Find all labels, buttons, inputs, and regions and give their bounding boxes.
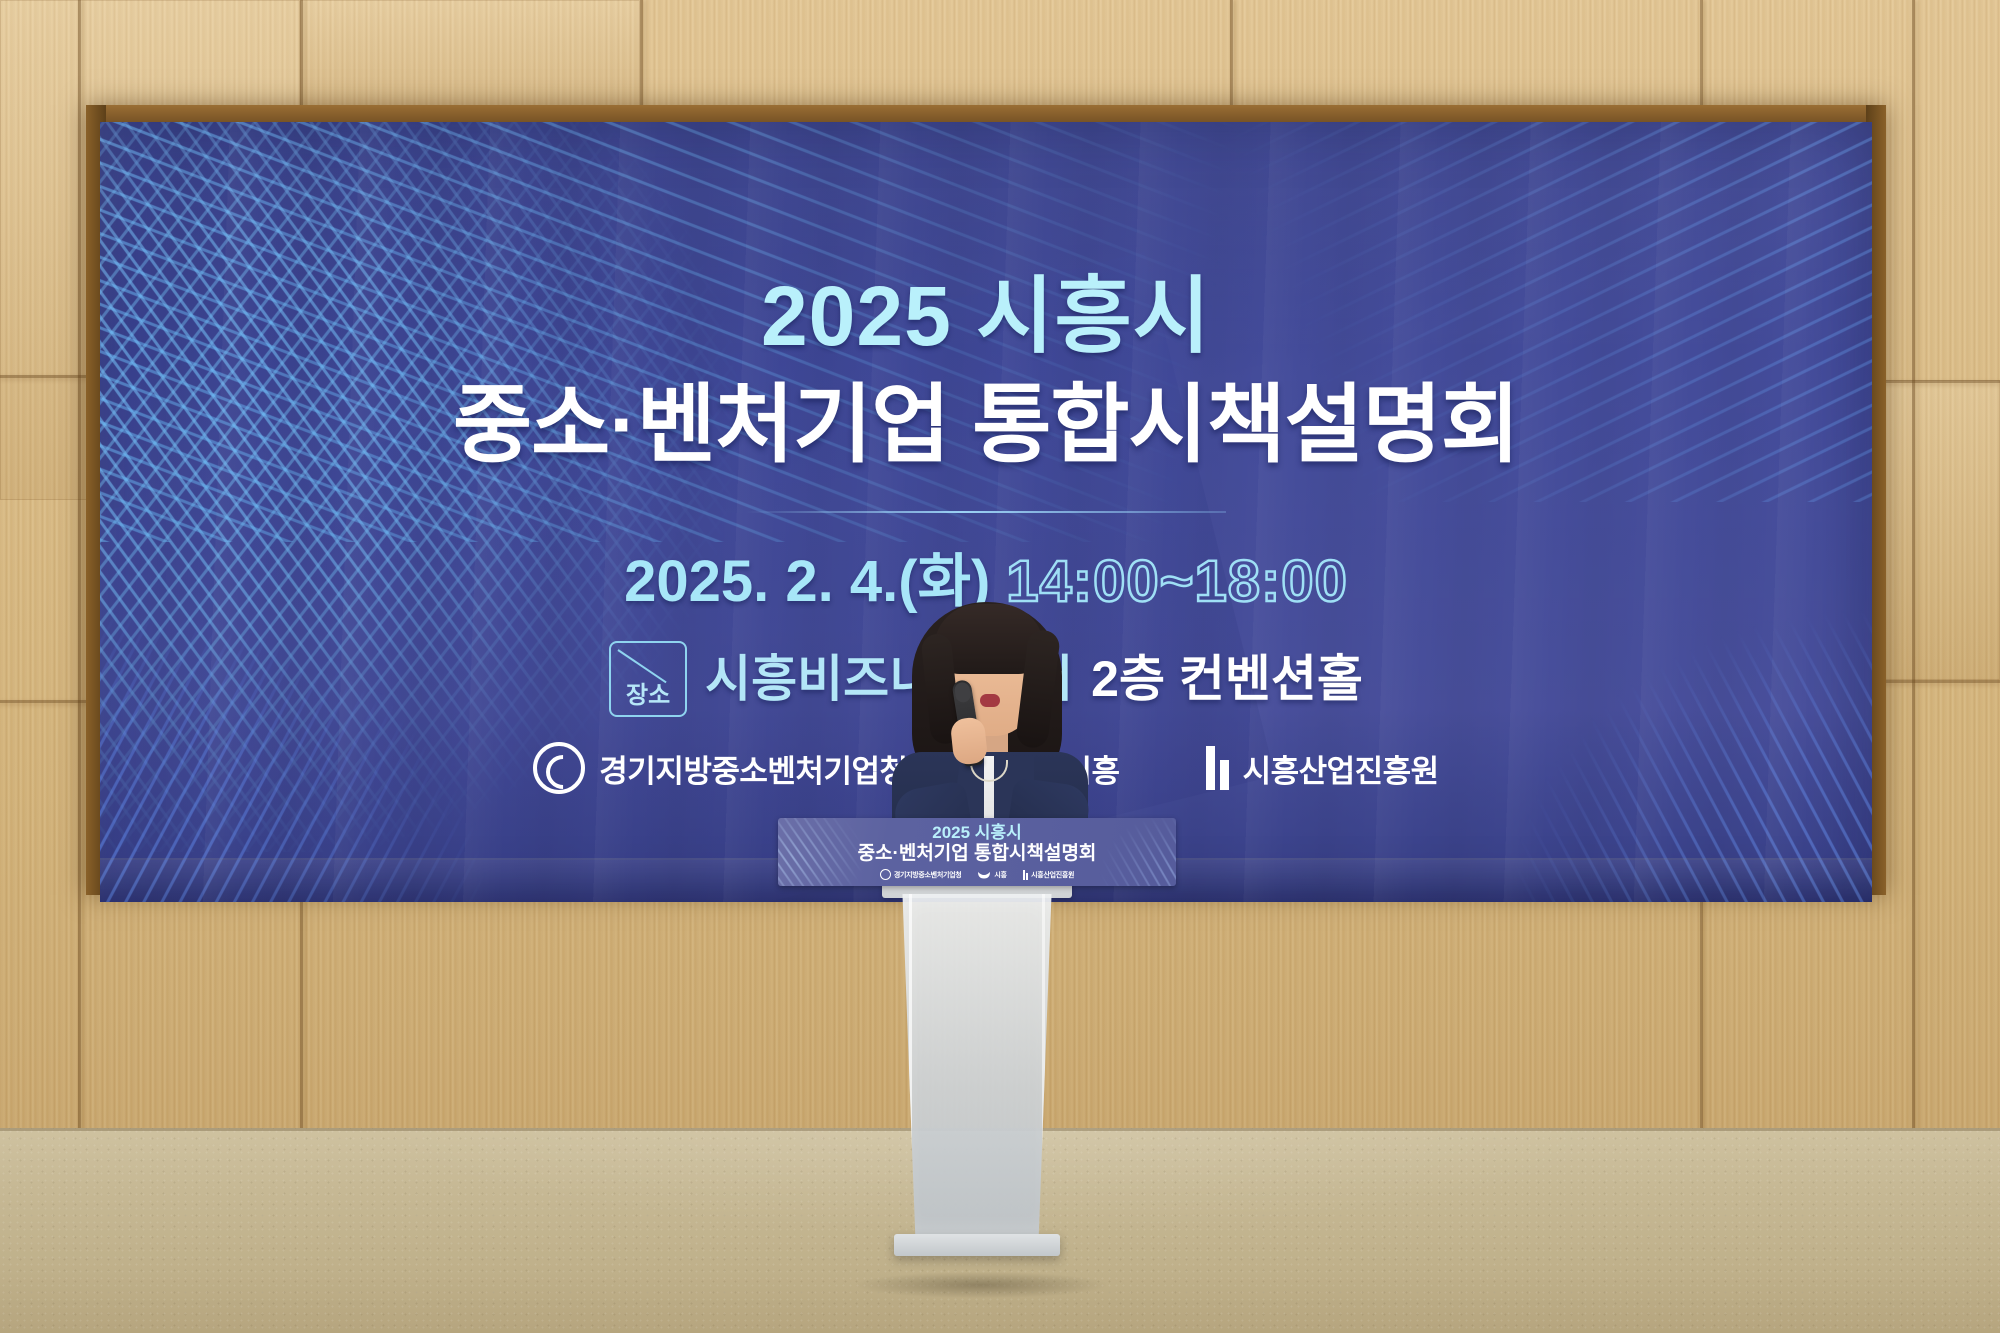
banner-title-line1: 2025 시흥시 (761, 274, 1211, 358)
speaker-hand (950, 716, 989, 765)
wall-seam (1230, 0, 1233, 112)
siheung-city-icon (977, 870, 991, 880)
wall-panel (300, 0, 640, 120)
venue-badge-slash-icon (618, 649, 667, 683)
podium-body (896, 894, 1058, 1240)
banner-venue-detail: 2층 컨벤션홀 (1091, 654, 1363, 704)
venue-badge: 장소 (609, 641, 687, 717)
podium-logo-label: 시흥산업진흥원 (1031, 870, 1074, 880)
siheung-city-icon-svg (977, 870, 991, 880)
bars-icon (1023, 870, 1029, 880)
taegeuk-icon (533, 742, 585, 794)
podium-logo-siheung-industry-promotion: 시흥산업진흥원 (1023, 870, 1074, 880)
banner-title-line2: 중소·벤처기업 통합시책설명회 (453, 380, 1519, 471)
podium-logo-gyeonggi-smba: 경기지방중소벤처기업청 (880, 869, 962, 880)
podium-sign-title-line1: 2025 시흥시 (932, 824, 1021, 843)
venue-badge-label: 장소 (626, 684, 670, 708)
logo-gyeonggi-smba: 경기지방중소벤처기업청 (533, 742, 907, 794)
podium-sign-title-line2: 중소·벤처기업 통합시책설명회 (858, 844, 1097, 865)
podium-sign: 2025 시흥시 중소·벤처기업 통합시책설명회 경기지방중소벤처기업청 시흥 … (778, 818, 1176, 886)
wall-seam (1912, 0, 1915, 1133)
podium-logo-label: 경기지방중소벤처기업청 (894, 870, 962, 880)
podium-logo-label: 시흥 (994, 870, 1006, 880)
wall-seam (640, 0, 643, 112)
speaker-hair-front (934, 604, 1044, 674)
logo-siheung-industry-promotion: 시흥산업진흥원 (1206, 746, 1439, 791)
speaker-mouth (980, 694, 1000, 707)
acrylic-podium (882, 860, 1072, 1280)
bars-icon (1206, 746, 1229, 790)
podium-sign-logo-row: 경기지방중소벤처기업청 시흥 시흥산업진흥원 (880, 869, 1074, 880)
wall-seam (78, 0, 81, 1133)
stage-scene: 2025 시흥시 중소·벤처기업 통합시책설명회 2025. 2. 4.(화) … (0, 0, 2000, 1333)
banner-divider (746, 511, 1226, 513)
logo-label: 경기지방중소벤처기업청 (599, 746, 907, 791)
logo-label: 시흥산업진흥원 (1243, 746, 1439, 791)
podium-base-plate (894, 1234, 1060, 1256)
podium-logo-siheung-city: 시흥 (977, 870, 1006, 880)
taegeuk-icon (880, 869, 891, 880)
